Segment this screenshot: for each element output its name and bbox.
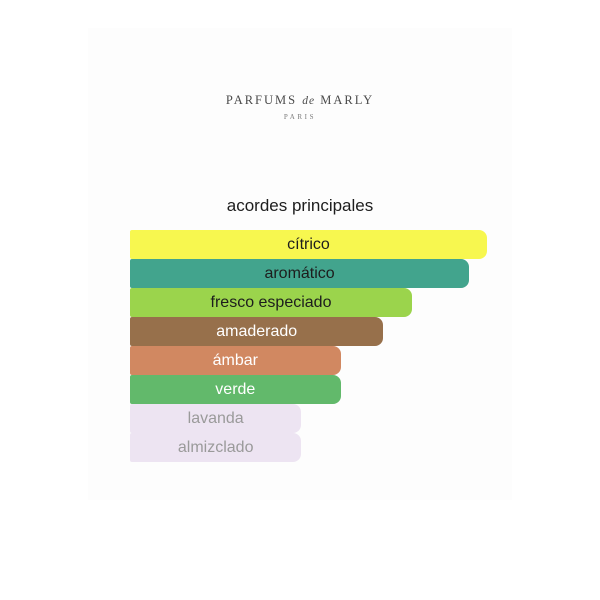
bar-row[interactable]: almizclado xyxy=(130,433,600,462)
bar-label: lavanda xyxy=(188,411,244,427)
brand-name: PARFUMS de MARLY xyxy=(0,93,600,108)
bar-cítrico[interactable]: cítrico xyxy=(130,230,487,259)
bar-amaderado[interactable]: amaderado xyxy=(130,317,383,346)
brand-city: PARIS xyxy=(0,113,600,121)
fragrance-accords-page: PARFUMS de MARLY PARIS acordes principal… xyxy=(0,0,600,600)
bar-lavanda[interactable]: lavanda xyxy=(130,404,301,433)
bar-label: amaderado xyxy=(216,324,297,340)
brand-name-part2: MARLY xyxy=(320,93,374,107)
bar-fresco-especiado[interactable]: fresco especiado xyxy=(130,288,412,317)
bar-row[interactable]: aromático xyxy=(130,259,600,288)
brand-name-part1: PARFUMS xyxy=(226,93,297,107)
bar-row[interactable]: cítrico xyxy=(130,230,600,259)
bar-label: almizclado xyxy=(178,440,254,456)
brand-name-de: de xyxy=(302,95,315,107)
bar-label: aromático xyxy=(264,266,334,282)
bar-label: fresco especiado xyxy=(211,295,332,311)
bar-label: cítrico xyxy=(287,237,330,253)
bar-verde[interactable]: verde xyxy=(130,375,341,404)
bar-ámbar[interactable]: ámbar xyxy=(130,346,341,375)
bar-row[interactable]: fresco especiado xyxy=(130,288,600,317)
bar-row[interactable]: verde xyxy=(130,375,600,404)
chart-title: acordes principales xyxy=(0,196,600,216)
bar-label: ámbar xyxy=(213,353,258,369)
brand-logo: PARFUMS de MARLY PARIS xyxy=(0,93,600,121)
bar-label: verde xyxy=(215,382,255,398)
bar-list: cítricoaromáticofresco especiadoamaderad… xyxy=(130,230,600,462)
bar-row[interactable]: amaderado xyxy=(130,317,600,346)
bar-aromático[interactable]: aromático xyxy=(130,259,469,288)
bar-row[interactable]: lavanda xyxy=(130,404,600,433)
accords-chart: acordes principales cítricoaromáticofres… xyxy=(0,196,600,462)
bar-row[interactable]: ámbar xyxy=(130,346,600,375)
bar-almizclado[interactable]: almizclado xyxy=(130,433,301,462)
